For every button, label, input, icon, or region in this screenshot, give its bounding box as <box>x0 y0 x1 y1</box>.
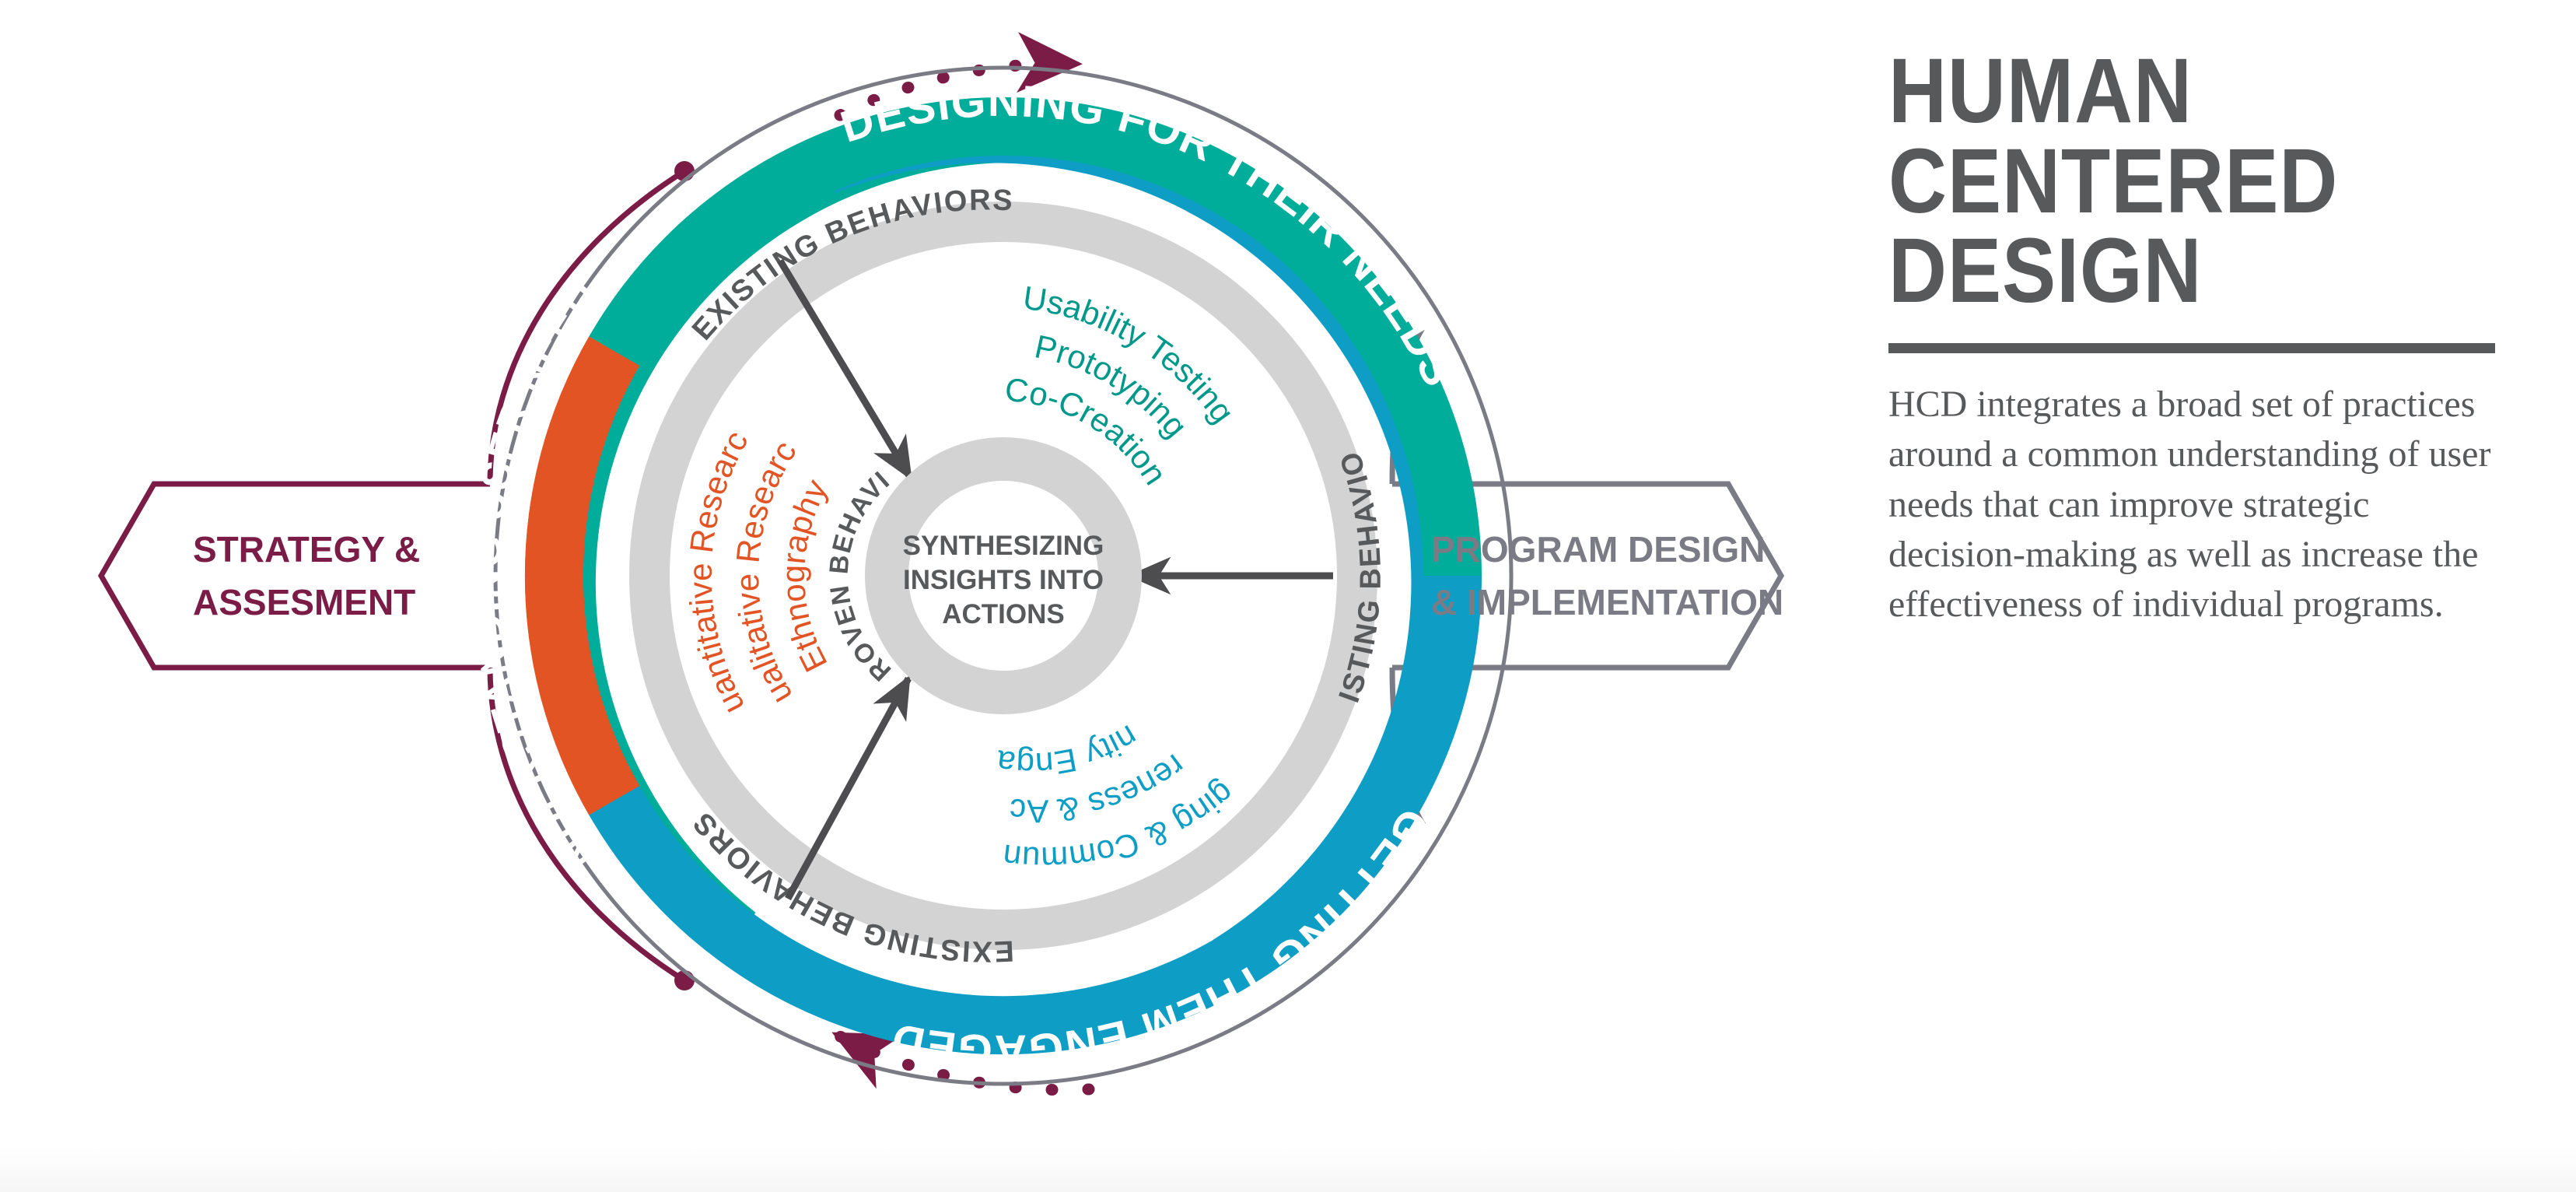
bottom-band <box>0 1145 2576 1192</box>
program-line-1: PROGRAM DESIGN <box>1431 529 1765 570</box>
strategy-assessment-banner[interactable] <box>101 161 695 990</box>
center-line-1: SYNTHESIZING <box>903 531 1104 561</box>
arrow-from-top-left <box>780 261 910 477</box>
strategy-line-2: ASSESMENT <box>193 582 415 622</box>
strategy-line-1: STRATEGY & <box>193 529 420 570</box>
title-line-3: DESIGN <box>1888 219 2202 322</box>
arrow-from-bottom-left <box>788 678 908 899</box>
diagram-canvas: DESIGNING FOR THEIR NEEDS GETTING THEM E… <box>0 0 2576 1192</box>
page-title: HUMANCENTEREDDESIGN <box>1888 47 2436 317</box>
program-line-2: & IMPLEMENTATION <box>1431 582 1783 622</box>
segment-label-orange: UNDERSTANDING USER NEEDS <box>0 0 606 878</box>
center-line-2: INSIGHTS INTO <box>903 565 1104 595</box>
title-line-1: HUMAN <box>1888 40 2193 142</box>
center-line-3: ACTIONS <box>942 599 1065 629</box>
description-paragraph: HCD integrates a broad set of practices … <box>1888 380 2503 630</box>
title-line-2: CENTERED <box>1888 130 2338 233</box>
right-text-column: HUMANCENTEREDDESIGN HCD integrates a bro… <box>1888 47 2511 629</box>
title-divider <box>1888 343 2495 353</box>
